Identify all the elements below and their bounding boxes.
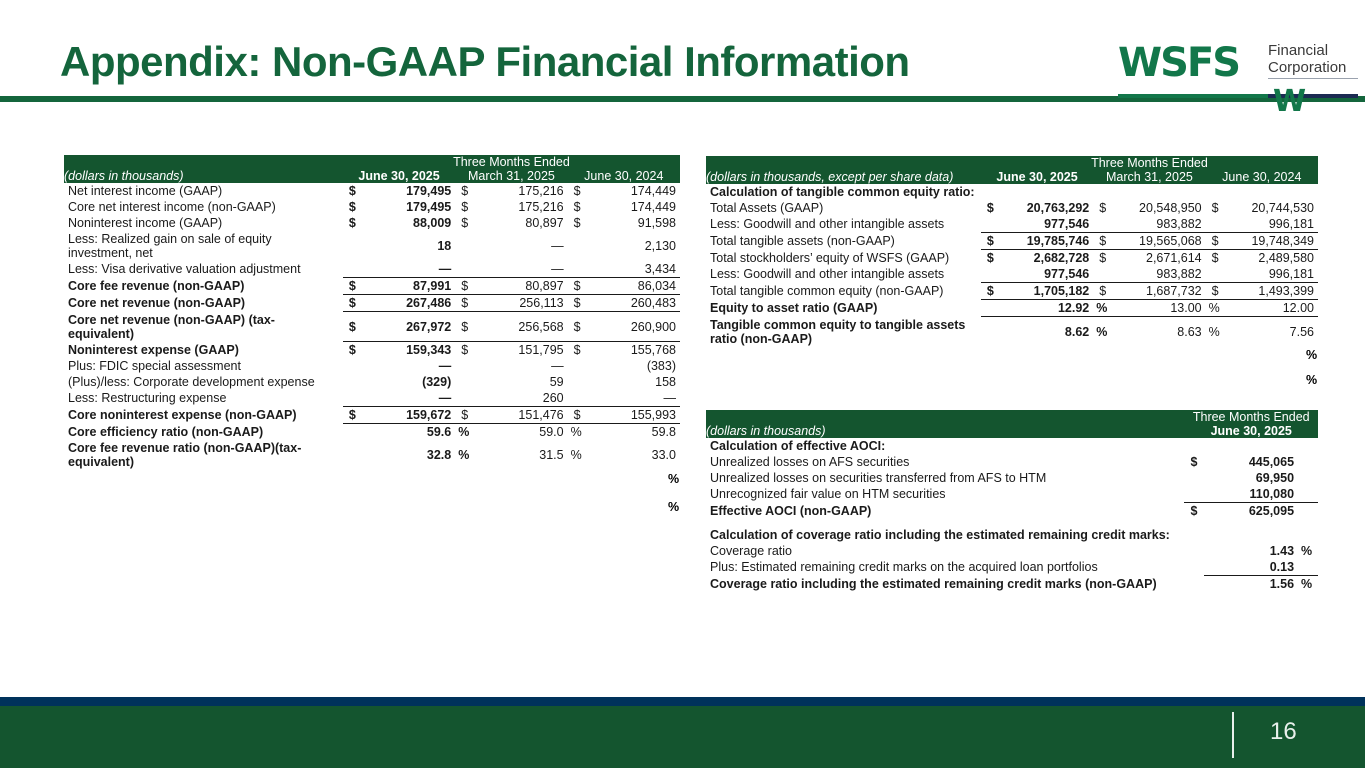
logo-subtitle: Financial Corporation bbox=[1268, 42, 1358, 79]
row-percent: % bbox=[455, 424, 475, 441]
row-label: Total tangible common equity (non-GAAP) bbox=[706, 283, 981, 300]
row-value: 18 bbox=[363, 231, 455, 261]
table-row: (Plus)/less: Corporate development expen… bbox=[64, 374, 680, 390]
left-col-header-1: June 30, 2025 bbox=[343, 169, 455, 183]
row-label: Effective AOCI (non-GAAP) bbox=[706, 503, 1184, 520]
row-currency: $ bbox=[568, 215, 588, 231]
row-value: 2,671,614 bbox=[1113, 250, 1205, 267]
aoci-col-header: June 30, 2025 bbox=[1184, 424, 1318, 438]
footer-navy-stripe bbox=[0, 697, 1365, 706]
row-currency: $ bbox=[1093, 233, 1113, 250]
row-label: Equity to asset ratio (GAAP) bbox=[706, 300, 981, 317]
table-row: Plus: Estimated remaining credit marks o… bbox=[706, 559, 1318, 576]
row-label: Net interest income (GAAP) bbox=[64, 183, 343, 199]
row-currency: $ bbox=[343, 407, 363, 424]
row-currency bbox=[343, 261, 363, 278]
row-value: 256,113 bbox=[475, 295, 567, 312]
row-value: 88,009 bbox=[363, 215, 455, 231]
aoci-section-title: Calculation of effective AOCI: bbox=[706, 438, 1318, 454]
row-currency bbox=[455, 358, 475, 374]
row-value: 1.56 bbox=[1204, 576, 1298, 593]
row-label: Total stockholders’ equity of WSFS (GAAP… bbox=[706, 250, 981, 267]
row-percent: % bbox=[1206, 300, 1226, 317]
logo-wordmark: WSFS bbox=[1118, 40, 1239, 86]
tce-ratio-percent-2: % bbox=[1306, 373, 1317, 387]
right-col-header-2: March 31, 2025 bbox=[1093, 170, 1205, 184]
row-currency: $ bbox=[981, 233, 1001, 250]
row-currency bbox=[343, 390, 363, 407]
row-label: Core efficiency ratio (non-GAAP) bbox=[64, 424, 343, 441]
row-currency: $ bbox=[343, 342, 363, 359]
row-value: — bbox=[475, 358, 567, 374]
table-row: Less: Restructuring expense — 260 — bbox=[64, 390, 680, 407]
table-row: Core fee revenue (non-GAAP) $ 87,991 $ 8… bbox=[64, 278, 680, 295]
row-value: 12.00 bbox=[1226, 300, 1318, 317]
row-label: Core fee revenue (non-GAAP) bbox=[64, 278, 343, 295]
row-currency: $ bbox=[343, 295, 363, 312]
logo-rule-green bbox=[1118, 94, 1268, 98]
row-value: 996,181 bbox=[1226, 266, 1318, 283]
row-percent: % bbox=[1093, 317, 1113, 347]
table-row: Total stockholders’ equity of WSFS (GAAP… bbox=[706, 250, 1318, 267]
row-label: Coverage ratio including the estimated r… bbox=[706, 576, 1184, 593]
row-currency: $ bbox=[343, 278, 363, 295]
row-value: — bbox=[363, 390, 455, 407]
table-row: Coverage ratio including the estimated r… bbox=[706, 576, 1318, 593]
row-currency: $ bbox=[568, 342, 588, 359]
row-value: 267,486 bbox=[363, 295, 455, 312]
row-currency bbox=[455, 261, 475, 278]
row-label: (Plus)/less: Corporate development expen… bbox=[64, 374, 343, 390]
row-value: 260,483 bbox=[588, 295, 680, 312]
row-currency bbox=[568, 374, 588, 390]
tce-ratio-percent-1: % bbox=[1306, 348, 1317, 362]
row-currency: $ bbox=[981, 200, 1001, 216]
row-value: 59 bbox=[475, 374, 567, 390]
row-currency: $ bbox=[343, 199, 363, 215]
table-row: Unrealized losses on securities transfer… bbox=[706, 470, 1318, 486]
spacer-row bbox=[706, 519, 1318, 527]
row-currency: $ bbox=[568, 295, 588, 312]
row-label: Less: Goodwill and other intangible asse… bbox=[706, 216, 981, 233]
row-currency bbox=[981, 266, 1001, 283]
row-value: 3,434 bbox=[588, 261, 680, 278]
table-row: Noninterest income (GAAP) $ 88,009 $ 80,… bbox=[64, 215, 680, 231]
row-label: Core net revenue (non-GAAP) (tax-equival… bbox=[64, 312, 343, 342]
row-value: 31.5 bbox=[475, 440, 567, 470]
table-row: Total tangible assets (non-GAAP) $ 19,78… bbox=[706, 233, 1318, 250]
row-value: 977,546 bbox=[1001, 216, 1093, 233]
table-row: Total tangible common equity (non-GAAP) … bbox=[706, 283, 1318, 300]
row-currency: $ bbox=[1206, 233, 1226, 250]
section-title-row: Calculation of effective AOCI: bbox=[706, 438, 1318, 454]
aoci-header-columns-row: (dollars in thousands) June 30, 2025 bbox=[706, 424, 1318, 438]
row-label: Noninterest income (GAAP) bbox=[64, 215, 343, 231]
footer-green-band bbox=[0, 706, 1365, 768]
row-value: 13.00 bbox=[1113, 300, 1205, 317]
table-header-columns-row: (dollars in thousands) June 30, 2025 Mar… bbox=[64, 169, 680, 183]
row-currency: $ bbox=[1093, 250, 1113, 267]
row-label: Coverage ratio bbox=[706, 543, 1184, 559]
row-currency: $ bbox=[1184, 503, 1204, 520]
row-value: 2,682,728 bbox=[1001, 250, 1093, 267]
row-currency: $ bbox=[981, 283, 1001, 300]
table-row: Core efficiency ratio (non-GAAP) 59.6 % … bbox=[64, 424, 680, 441]
row-value: 59.0 bbox=[475, 424, 567, 441]
row-currency bbox=[455, 231, 475, 261]
row-value: 1,493,399 bbox=[1226, 283, 1318, 300]
row-value: 87,991 bbox=[363, 278, 455, 295]
row-currency: $ bbox=[343, 215, 363, 231]
row-value: — bbox=[363, 261, 455, 278]
row-value: 69,950 bbox=[1204, 470, 1298, 486]
table-row: Total Assets (GAAP) $ 20,763,292 $ 20,54… bbox=[706, 200, 1318, 216]
row-value: 174,449 bbox=[588, 183, 680, 199]
row-label: Core fee revenue ratio (non-GAAP)(tax-eq… bbox=[64, 440, 343, 470]
row-value: 267,972 bbox=[363, 312, 455, 342]
row-value: — bbox=[363, 358, 455, 374]
row-value: 80,897 bbox=[475, 278, 567, 295]
row-currency: $ bbox=[343, 183, 363, 199]
row-currency: $ bbox=[1093, 283, 1113, 300]
row-label: Plus: Estimated remaining credit marks o… bbox=[706, 559, 1184, 576]
logo-subtitle-line1: Financial bbox=[1268, 42, 1358, 59]
table-row: Coverage ratio 1.43 % bbox=[706, 543, 1318, 559]
row-label: Unrealized losses on AFS securities bbox=[706, 454, 1184, 470]
row-value: 977,546 bbox=[1001, 266, 1093, 283]
page-title: Appendix: Non-GAAP Financial Information bbox=[60, 38, 910, 86]
row-currency bbox=[1184, 470, 1204, 486]
row-value: — bbox=[475, 231, 567, 261]
row-currency: $ bbox=[568, 183, 588, 199]
row-value: 179,495 bbox=[363, 183, 455, 199]
row-percent bbox=[1298, 559, 1318, 576]
row-value: 19,748,349 bbox=[1226, 233, 1318, 250]
row-value: 260 bbox=[475, 390, 567, 407]
row-currency: $ bbox=[981, 250, 1001, 267]
row-value: 151,476 bbox=[475, 407, 567, 424]
row-percent: % bbox=[455, 440, 475, 470]
table-row: Plus: FDIC special assessment — — (383) bbox=[64, 358, 680, 374]
row-value: 1.43 bbox=[1204, 543, 1298, 559]
row-value: 174,449 bbox=[588, 199, 680, 215]
row-value: 0.13 bbox=[1204, 559, 1298, 576]
row-currency bbox=[1206, 266, 1226, 283]
row-currency bbox=[981, 216, 1001, 233]
row-currency bbox=[1206, 216, 1226, 233]
table-row: Core net revenue (non-GAAP) (tax-equival… bbox=[64, 312, 680, 342]
logo-subtitle-line2: Corporation bbox=[1268, 59, 1358, 76]
row-label: Less: Realized gain on sale of equity in… bbox=[64, 231, 343, 261]
row-currency bbox=[343, 374, 363, 390]
row-currency: $ bbox=[1184, 454, 1204, 470]
row-value: 91,598 bbox=[588, 215, 680, 231]
table-header-columns-row: (dollars in thousands, except per share … bbox=[706, 170, 1318, 184]
row-value: 1,705,182 bbox=[1001, 283, 1093, 300]
footer-divider bbox=[1232, 712, 1234, 758]
row-currency: $ bbox=[455, 215, 475, 231]
row-value: 158 bbox=[588, 374, 680, 390]
row-currency: $ bbox=[455, 312, 475, 342]
row-value: 256,568 bbox=[475, 312, 567, 342]
table-row: Unrealized losses on AFS securities $ 44… bbox=[706, 454, 1318, 470]
effective-aoci-table: Three Months Ended (dollars in thousands… bbox=[706, 410, 1318, 592]
row-percent: % bbox=[1206, 317, 1226, 347]
row-value: 19,565,068 bbox=[1113, 233, 1205, 250]
table-row: Unrecognized fair value on HTM securitie… bbox=[706, 486, 1318, 503]
row-currency: $ bbox=[455, 407, 475, 424]
row-label: Less: Restructuring expense bbox=[64, 390, 343, 407]
section-title-row: Calculation of tangible common equity ra… bbox=[706, 184, 1318, 200]
row-value: (383) bbox=[588, 358, 680, 374]
row-currency: $ bbox=[455, 183, 475, 199]
row-value: 7.56 bbox=[1226, 317, 1318, 347]
row-value: 2,489,580 bbox=[1226, 250, 1318, 267]
row-value: — bbox=[475, 261, 567, 278]
row-value: — bbox=[588, 390, 680, 407]
row-value: 32.8 bbox=[363, 440, 455, 470]
table-row: Net interest income (GAAP) $ 179,495 $ 1… bbox=[64, 183, 680, 199]
row-currency bbox=[568, 358, 588, 374]
row-value: 159,672 bbox=[363, 407, 455, 424]
row-label: Less: Goodwill and other intangible asse… bbox=[706, 266, 981, 283]
row-currency: $ bbox=[455, 278, 475, 295]
table-row: Less: Goodwill and other intangible asse… bbox=[706, 266, 1318, 283]
row-value: 2,130 bbox=[588, 231, 680, 261]
right-unit-label: (dollars in thousands, except per share … bbox=[706, 170, 981, 184]
aoci-period-label: Three Months Ended bbox=[1184, 410, 1318, 424]
row-value: 86,034 bbox=[588, 278, 680, 295]
row-percent: % bbox=[1093, 300, 1113, 317]
table-row: Effective AOCI (non-GAAP) $ 625,095 bbox=[706, 503, 1318, 520]
row-value: 1,687,732 bbox=[1113, 283, 1205, 300]
row-currency bbox=[1093, 216, 1113, 233]
row-value: 19,785,746 bbox=[1001, 233, 1093, 250]
row-label: Plus: FDIC special assessment bbox=[64, 358, 343, 374]
row-currency: $ bbox=[568, 312, 588, 342]
table-row: Core net revenue (non-GAAP) $ 267,486 $ … bbox=[64, 295, 680, 312]
row-value: 175,216 bbox=[475, 199, 567, 215]
left-unit-label: (dollars in thousands) bbox=[64, 169, 343, 183]
row-value: (329) bbox=[363, 374, 455, 390]
row-currency: $ bbox=[455, 342, 475, 359]
row-label: Core noninterest expense (non-GAAP) bbox=[64, 407, 343, 424]
row-value: 8.62 bbox=[1001, 317, 1093, 347]
right-col-header-3: June 30, 2024 bbox=[1206, 170, 1318, 184]
table-header-period-row: Three Months Ended bbox=[64, 155, 680, 169]
row-label: Unrecognized fair value on HTM securitie… bbox=[706, 486, 1184, 503]
table-row: Less: Realized gain on sale of equity in… bbox=[64, 231, 680, 261]
row-value: 445,065 bbox=[1204, 454, 1298, 470]
table-row: Core net interest income (non-GAAP) $ 17… bbox=[64, 199, 680, 215]
row-currency bbox=[568, 390, 588, 407]
row-currency: $ bbox=[568, 278, 588, 295]
row-value: 59.6 bbox=[363, 424, 455, 441]
row-value: 8.63 bbox=[1113, 317, 1205, 347]
row-value: 159,343 bbox=[363, 342, 455, 359]
page-number: 16 bbox=[1270, 718, 1297, 746]
row-currency bbox=[343, 231, 363, 261]
row-currency bbox=[343, 358, 363, 374]
aoci-unit-label: (dollars in thousands) bbox=[706, 424, 1184, 438]
tce-section-title: Calculation of tangible common equity ra… bbox=[706, 184, 1318, 200]
table-row: Core noninterest expense (non-GAAP) $ 15… bbox=[64, 407, 680, 424]
row-value: 59.8 bbox=[588, 424, 680, 441]
left-period-label: Three Months Ended bbox=[343, 155, 680, 169]
aoci-header-period-row: Three Months Ended bbox=[706, 410, 1318, 424]
row-label: Tangible common equity to tangible asset… bbox=[706, 317, 981, 347]
row-value: 996,181 bbox=[1226, 216, 1318, 233]
row-currency: $ bbox=[568, 407, 588, 424]
table-row: Equity to asset ratio (GAAP) 12.92 % 13.… bbox=[706, 300, 1318, 317]
table-row: Core fee revenue ratio (non-GAAP)(tax-eq… bbox=[64, 440, 680, 470]
row-label: Unrealized losses on securities transfer… bbox=[706, 470, 1184, 486]
row-currency bbox=[568, 261, 588, 278]
tangible-common-equity-table: Three Months Ended (dollars in thousands… bbox=[706, 156, 1318, 347]
row-percent: % bbox=[1298, 576, 1318, 593]
row-label: Total tangible assets (non-GAAP) bbox=[706, 233, 981, 250]
table-row: Less: Visa derivative valuation adjustme… bbox=[64, 261, 680, 278]
row-label: Core net interest income (non-GAAP) bbox=[64, 199, 343, 215]
table-row: Noninterest expense (GAAP) $ 159,343 $ 1… bbox=[64, 342, 680, 359]
row-currency: $ bbox=[1206, 200, 1226, 216]
row-value: 983,882 bbox=[1113, 216, 1205, 233]
row-value: 20,548,950 bbox=[1113, 200, 1205, 216]
row-currency bbox=[1093, 266, 1113, 283]
left-ratio-percent-1: % bbox=[668, 472, 679, 486]
row-value: 110,080 bbox=[1204, 486, 1298, 503]
coverage-section-title: Calculation of coverage ratio including … bbox=[706, 527, 1318, 543]
row-label: Noninterest expense (GAAP) bbox=[64, 342, 343, 359]
left-col-header-3: June 30, 2024 bbox=[568, 169, 680, 183]
row-value: 80,897 bbox=[475, 215, 567, 231]
row-value: 33.0 bbox=[588, 440, 680, 470]
row-currency: $ bbox=[1206, 250, 1226, 267]
row-value: 155,768 bbox=[588, 342, 680, 359]
row-currency bbox=[455, 390, 475, 407]
table-header-period-row: Three Months Ended bbox=[706, 156, 1318, 170]
row-percent: % bbox=[568, 424, 588, 441]
row-label: Core net revenue (non-GAAP) bbox=[64, 295, 343, 312]
non-gaap-revenue-table: Three Months Ended (dollars in thousands… bbox=[64, 155, 680, 470]
row-value: 20,763,292 bbox=[1001, 200, 1093, 216]
right-col-header-1: June 30, 2025 bbox=[981, 170, 1093, 184]
row-value: 151,795 bbox=[475, 342, 567, 359]
row-currency: $ bbox=[455, 199, 475, 215]
table-row: Tangible common equity to tangible asset… bbox=[706, 317, 1318, 347]
section-title-row: Calculation of coverage ratio including … bbox=[706, 527, 1318, 543]
row-currency: $ bbox=[455, 295, 475, 312]
row-currency: $ bbox=[1206, 283, 1226, 300]
row-value: 625,095 bbox=[1204, 503, 1298, 520]
row-value: 179,495 bbox=[363, 199, 455, 215]
row-currency bbox=[455, 374, 475, 390]
left-col-header-2: March 31, 2025 bbox=[455, 169, 567, 183]
row-value: 12.92 bbox=[1001, 300, 1093, 317]
row-value: 155,993 bbox=[588, 407, 680, 424]
row-currency: $ bbox=[343, 312, 363, 342]
row-currency bbox=[568, 231, 588, 261]
left-ratio-percent-2: % bbox=[668, 500, 679, 514]
row-currency: $ bbox=[1093, 200, 1113, 216]
row-value: 983,882 bbox=[1113, 266, 1205, 283]
row-label: Total Assets (GAAP) bbox=[706, 200, 981, 216]
row-value: 260,900 bbox=[588, 312, 680, 342]
row-value: 20,744,530 bbox=[1226, 200, 1318, 216]
row-value: 175,216 bbox=[475, 183, 567, 199]
logo-w-mark: W bbox=[1273, 90, 1306, 114]
row-currency: $ bbox=[568, 199, 588, 215]
row-label: Less: Visa derivative valuation adjustme… bbox=[64, 261, 343, 278]
right-period-label: Three Months Ended bbox=[981, 156, 1318, 170]
row-percent: % bbox=[1298, 543, 1318, 559]
wsfs-logo: WSFS Financial Corporation W bbox=[1118, 40, 1358, 116]
table-row: Less: Goodwill and other intangible asse… bbox=[706, 216, 1318, 233]
row-percent: % bbox=[568, 440, 588, 470]
row-currency bbox=[1184, 486, 1204, 503]
